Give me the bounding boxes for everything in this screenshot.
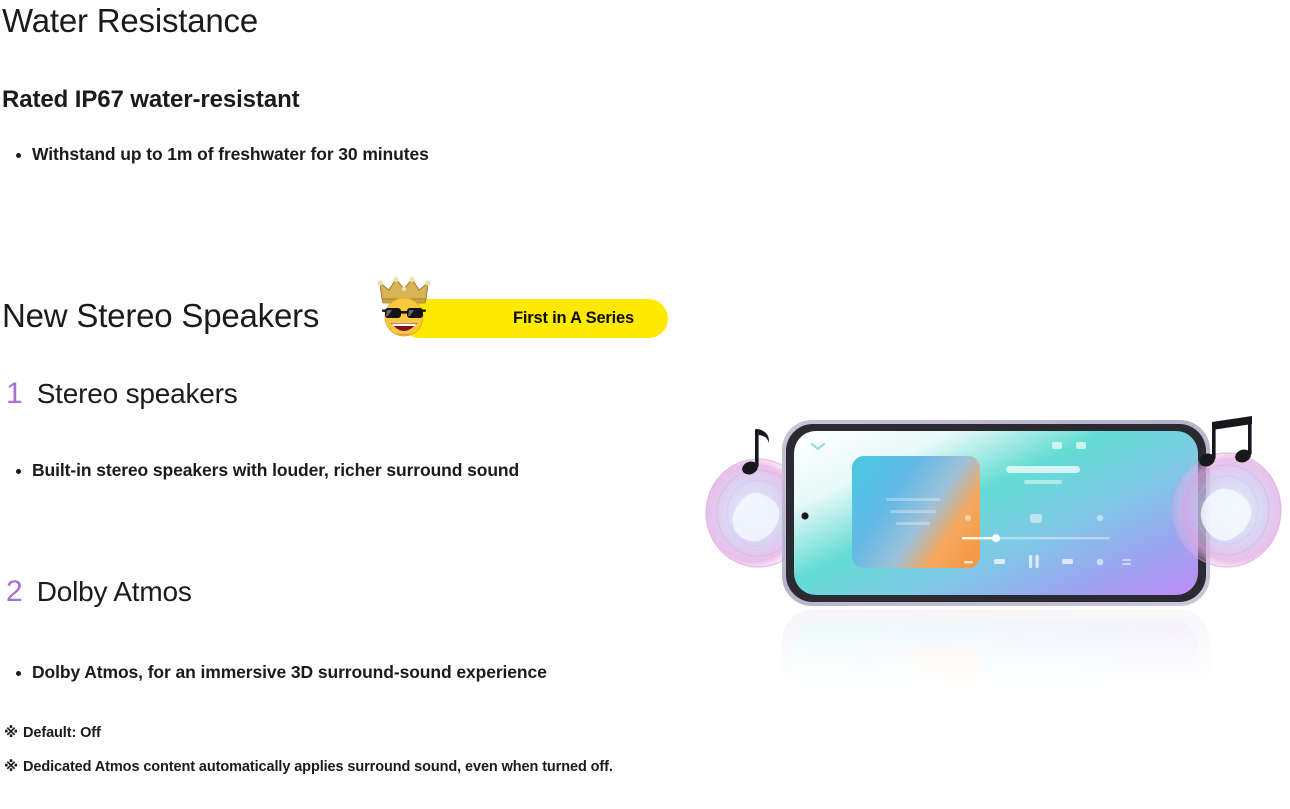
item-label: Stereo speakers — [37, 380, 238, 408]
item-label: Dolby Atmos — [37, 578, 192, 606]
item-number: 2 — [6, 577, 23, 607]
sound-burst-right — [1173, 453, 1281, 567]
footnote-text: Dedicated Atmos content automatically ap… — [23, 759, 613, 775]
bullet-dot-icon — [16, 469, 21, 474]
footnote-dedicated-atmos: ※Dedicated Atmos content automatically a… — [4, 759, 613, 775]
numbered-item-1: 1 Stereo speakers — [6, 379, 238, 409]
badge-label: First in A Series — [513, 309, 634, 328]
slide-canvas: Water Resistance Rated IP67 water-resist… — [0, 0, 1290, 809]
landscape-phone-music-player-image — [700, 398, 1290, 688]
page-title-water-resistance: Water Resistance — [2, 2, 258, 40]
phone-body — [782, 420, 1210, 606]
subheading-ip67: Rated IP67 water-resistant — [2, 86, 300, 114]
bullet-item: Dolby Atmos, for an immersive 3D surroun… — [16, 662, 547, 684]
bullet-dot-icon — [16, 153, 21, 158]
bullet-text: Built-in stereo speakers with louder, ri… — [32, 460, 519, 482]
reference-mark-icon: ※ — [4, 759, 18, 775]
bullet-text: Dolby Atmos, for an immersive 3D surroun… — [32, 662, 547, 684]
reference-mark-icon: ※ — [4, 725, 18, 741]
first-in-a-series-badge: First in A Series — [400, 299, 668, 338]
page-title-new-stereo-speakers: New Stereo Speakers — [2, 297, 319, 335]
bullet-text: Withstand up to 1m of freshwater for 30 … — [32, 144, 429, 166]
bullet-item: Built-in stereo speakers with louder, ri… — [16, 460, 519, 482]
numbered-item-2: 2 Dolby Atmos — [6, 577, 192, 607]
front-camera-icon — [801, 512, 808, 519]
footnote-text: Default: Off — [23, 725, 101, 741]
bullet-item: Withstand up to 1m of freshwater for 30 … — [16, 144, 429, 166]
item-number: 1 — [6, 379, 23, 409]
bullet-dot-icon — [16, 671, 21, 676]
footnote-default-off: ※Default: Off — [4, 725, 101, 741]
